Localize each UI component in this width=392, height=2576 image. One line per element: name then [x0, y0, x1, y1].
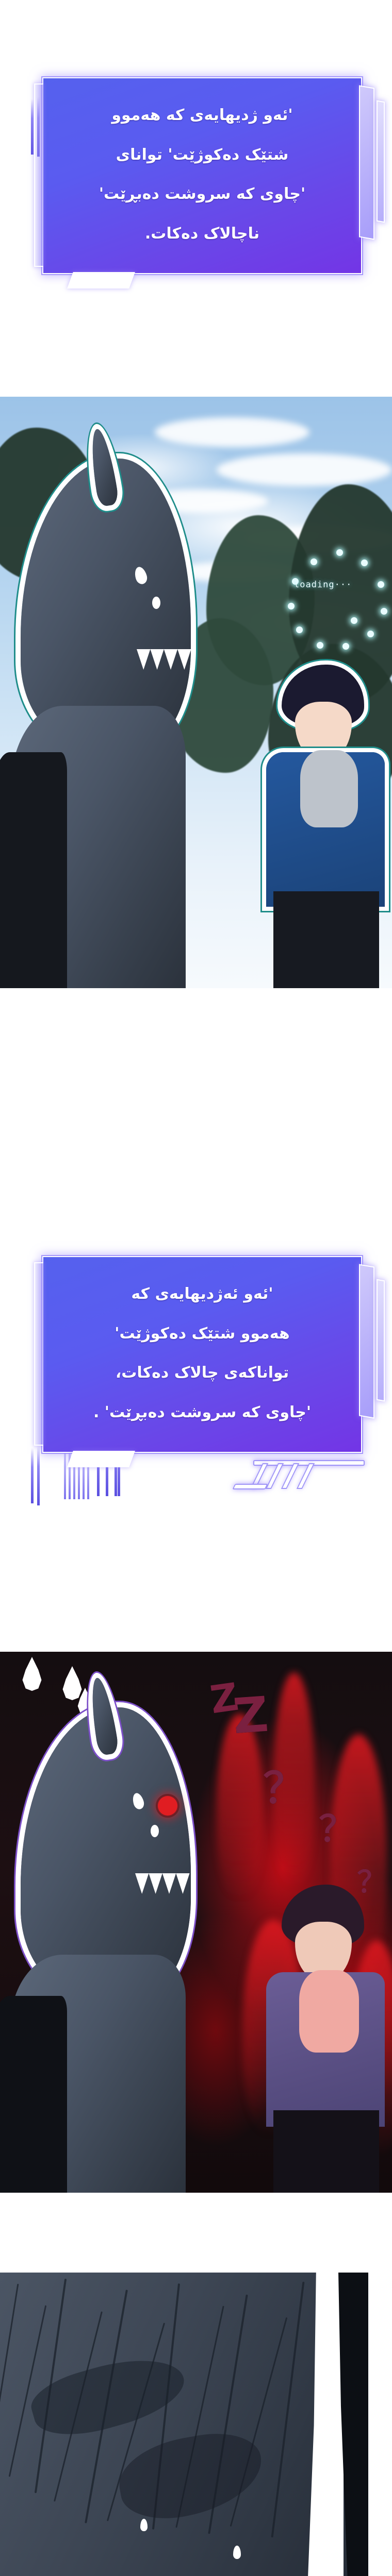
dialogue-box-1-tail — [67, 272, 135, 289]
dialogue-box-1: 'ئەو ژدیهایەی کە هەموو شتێک دەکوژێت' توا… — [42, 77, 362, 274]
man-hoodie — [299, 1970, 359, 2053]
panel-gap — [0, 988, 392, 1018]
hud-loading-ring — [289, 551, 387, 649]
dragon-shoulder — [0, 752, 67, 988]
dialogue-box-2-left-layer — [34, 1262, 43, 1446]
dragon-nostril — [152, 597, 160, 609]
dialogue-box-1-bevel-outer — [377, 100, 385, 223]
dialogue-box-1-bevel — [359, 85, 374, 240]
dialogue-line: ناچالاک دەکات. — [61, 214, 344, 254]
panel-2: Z Z ？ ？ ？ — [0, 1652, 392, 2193]
dragon-shoulder — [0, 1996, 67, 2193]
man-pants — [273, 891, 379, 988]
cloud — [155, 417, 309, 447]
dialogue-line: 'چاوی کە سروشت دەبڕێت' — [61, 175, 344, 214]
sweat-droplet-small — [140, 2519, 148, 2531]
dialogue-box-1-region: 'ئەو ژدیهایەی کە هەموو شتێک دەکوژێت' توا… — [0, 77, 392, 397]
dialogue-box-2: 'ئەو ئەژدیهایەی کە هەموو شتێک دەکوژێت' ت… — [42, 1256, 362, 1453]
cloud — [217, 453, 392, 486]
sweat-droplet-small — [233, 2546, 241, 2559]
sleep-glyph-z: Z — [231, 1687, 270, 1745]
dragon-nostril — [151, 1825, 159, 1837]
dialogue-line: شتێک دەکوژێت' توانای — [61, 135, 344, 175]
panel-gap — [0, 2193, 392, 2273]
question-glyph: ？ — [357, 1858, 387, 1901]
dragon-eye-glowing-red — [158, 1796, 177, 1816]
dialogue-line: تواناکەی چالاک دەکات، — [61, 1353, 344, 1393]
loading-label: loading··· — [294, 580, 352, 590]
man-hoodie — [300, 750, 358, 827]
dialogue-line: 'ئەو ژدیهایەی کە هەموو — [61, 96, 344, 135]
question-glyph: ？ — [263, 1754, 305, 1815]
dialogue-line: 'ئەو ئەژدیهایەی کە — [61, 1275, 344, 1314]
panel-3 — [0, 2273, 392, 2576]
dialogue-line: 'چاوی کە سروشت دەبڕێت' . — [61, 1393, 344, 1433]
dialogue-line: هەموو شتێک دەکوژێت' — [61, 1314, 344, 1354]
panel-1: loading··· — [0, 397, 392, 988]
dialogue-box-2-region: 'ئەو ئەژدیهایەی کە هەموو شتێک دەکوژێت' ت… — [0, 1256, 392, 1652]
man-pants — [273, 2110, 379, 2193]
dialogue-box-2-bevel — [359, 1264, 374, 1418]
dialogue-box-2-bevel-outer — [377, 1279, 385, 1401]
question-glyph: ？ — [319, 1800, 355, 1852]
webtoon-page: 'ئەو ژدیهایەی کە هەموو شتێک دەکوژێت' توا… — [0, 0, 392, 2576]
white-shape — [368, 2273, 392, 2576]
dialogue-box-1-left-layer — [34, 83, 43, 267]
dialogue-box-2-tail — [67, 1451, 135, 1467]
